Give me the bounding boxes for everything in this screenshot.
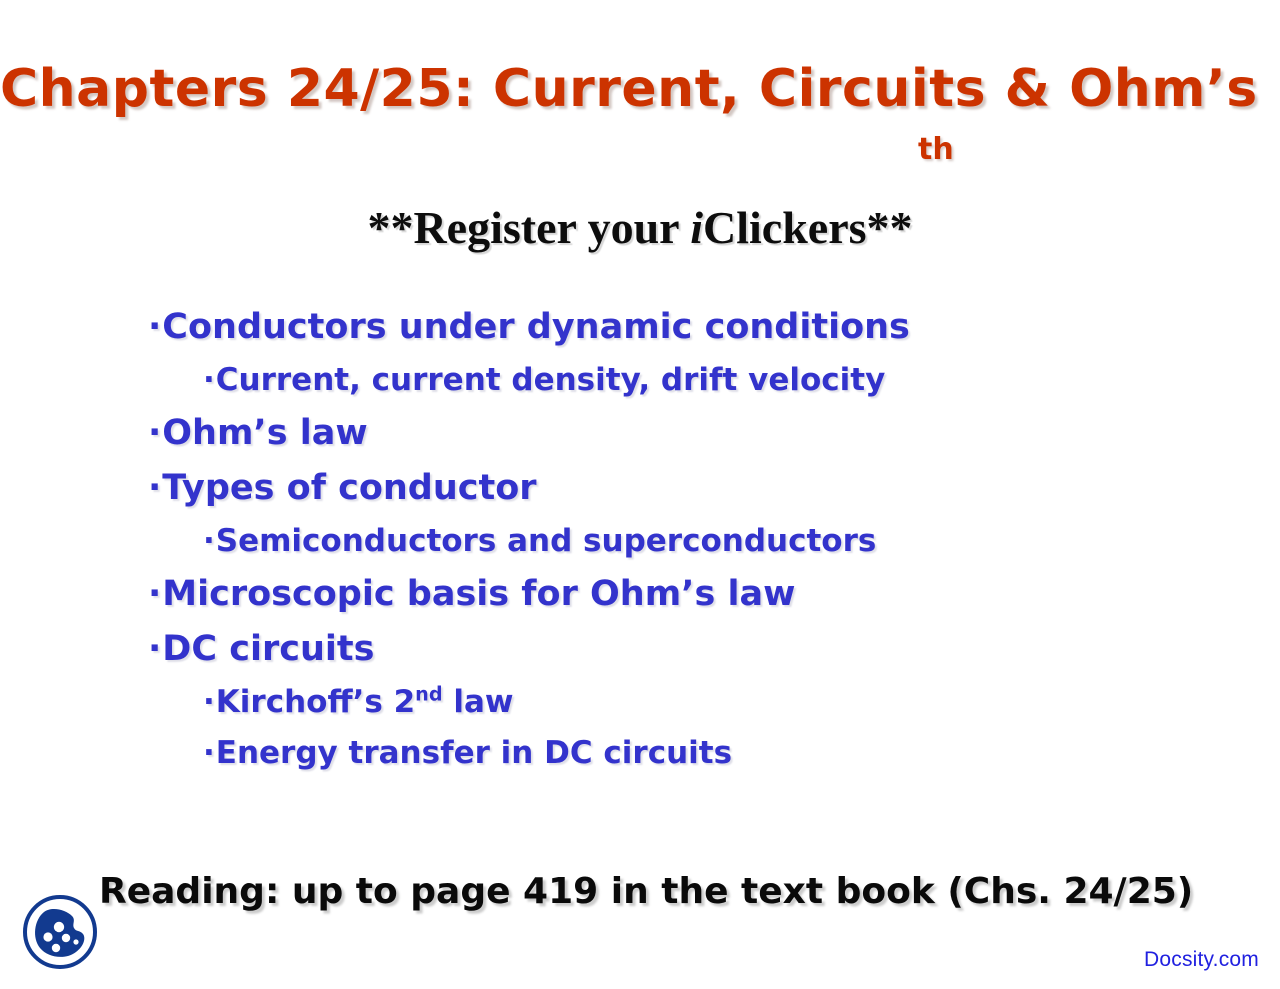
slide-canvas: Chapters 24/25: Current, Circuits & Ohm’… (0, 0, 1280, 989)
list-item-label-tail: law (443, 684, 514, 720)
bullet-dot-icon: · (148, 567, 161, 622)
bullet-dot-icon: · (148, 622, 161, 677)
bullet-list: ·Conductors under dynamic conditions ·Cu… (0, 300, 1280, 779)
register-prefix: **Register your (367, 202, 690, 253)
reading-assignment-text: Reading: up to page 419 in the text book… (99, 871, 1193, 912)
list-item: ·Microscopic basis for Ohm’s law (0, 567, 1280, 622)
page-title: Chapters 24/25: Current, Circuits & Ohm’… (0, 62, 1280, 117)
bullet-dot-icon: · (203, 355, 215, 406)
register-suffix: Clickers** (703, 202, 913, 253)
list-item-label: Ohm’s law (162, 413, 367, 453)
list-item-label: Energy transfer in DC circuits (216, 735, 732, 771)
list-item-label: Types of conductor (162, 468, 536, 508)
bullet-dot-icon: · (148, 300, 161, 355)
register-clickers-text: **Register your iClickers** (367, 203, 912, 254)
list-item-label: Semiconductors and superconductors (216, 523, 877, 559)
list-item-label: Microscopic basis for Ohm’s law (162, 574, 795, 614)
list-item-label: Kirchoff’s 2 (216, 684, 415, 720)
list-item-label: Current, current density, drift velocity (216, 362, 886, 398)
list-item: ·Current, current density, drift velocit… (0, 355, 1280, 406)
list-item-label: Conductors under dynamic conditions (162, 307, 910, 347)
title-block: Chapters 24/25: Current, Circuits & Ohm’… (0, 62, 1280, 117)
list-item-superscript: nd (415, 683, 442, 706)
register-italic-i: i (690, 202, 703, 253)
docsity-watermark: Docsity.com (1144, 948, 1259, 972)
list-item-label: DC circuits (162, 629, 374, 669)
title-superscript: th (918, 132, 954, 167)
bullet-dot-icon: · (148, 406, 161, 461)
list-item: ·Kirchoff’s 2nd law (0, 677, 1280, 728)
list-item: ·Ohm’s law (0, 406, 1280, 461)
docsity-logo-icon (18, 890, 102, 974)
list-item: ·Semiconductors and superconductors (0, 516, 1280, 567)
register-clickers-line: **Register your iClickers** (0, 203, 1280, 254)
bullet-dot-icon: · (203, 516, 215, 567)
bullet-dot-icon: · (203, 677, 215, 728)
list-item: ·DC circuits (0, 622, 1280, 677)
bullet-dot-icon: · (203, 728, 215, 779)
list-item: ·Types of conductor (0, 461, 1280, 516)
list-item: ·Conductors under dynamic conditions (0, 300, 1280, 355)
list-item: ·Energy transfer in DC circuits (0, 728, 1280, 779)
bullet-dot-icon: · (148, 461, 161, 516)
